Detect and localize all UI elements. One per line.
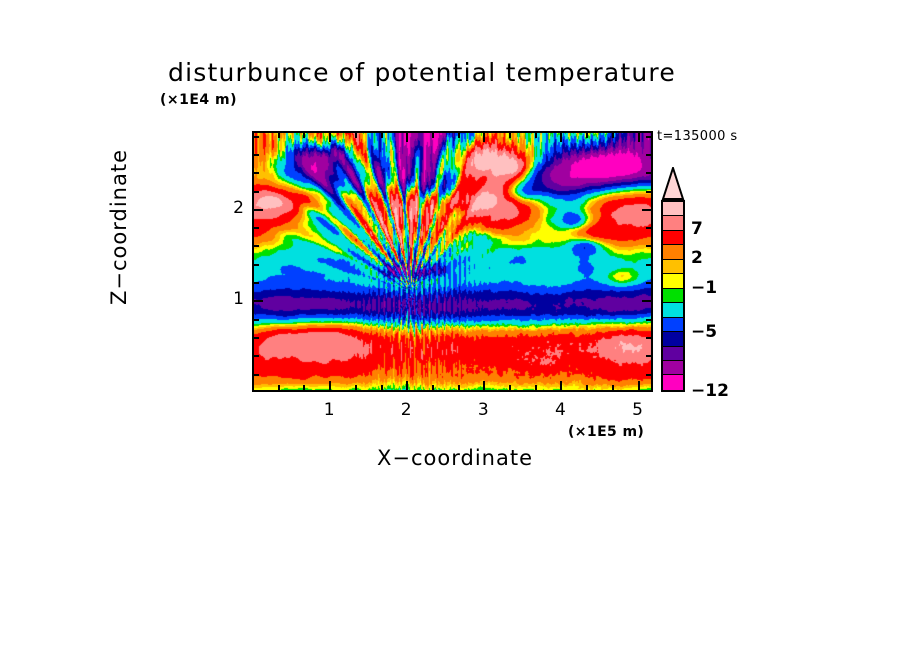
x-minor-tick-top bbox=[612, 133, 614, 138]
y-minor-tick bbox=[254, 136, 259, 138]
y-minor-tick-right bbox=[646, 319, 651, 321]
colorbar-tick-label: 7 bbox=[691, 219, 703, 239]
x-minor-tick-top bbox=[535, 133, 537, 138]
contour-field bbox=[254, 133, 651, 390]
x-major-tick-top bbox=[560, 133, 562, 142]
y-minor-tick bbox=[254, 245, 259, 247]
x-tick-label: 5 bbox=[623, 400, 653, 420]
colorbar-segment bbox=[663, 260, 683, 274]
x-tick-label: 3 bbox=[468, 400, 498, 420]
x-minor-tick-top bbox=[381, 133, 383, 138]
x-axis-title: X−coordinate bbox=[300, 446, 610, 470]
y-minor-tick-right bbox=[646, 355, 651, 357]
x-minor-tick-top bbox=[509, 133, 511, 138]
x-major-tick bbox=[638, 381, 640, 390]
colorbar-segment bbox=[663, 303, 683, 317]
x-major-tick-top bbox=[638, 133, 640, 142]
x-minor-tick-top bbox=[586, 133, 588, 138]
y-minor-tick-right bbox=[646, 154, 651, 156]
y-minor-tick bbox=[254, 191, 259, 193]
colorbar-segment bbox=[663, 375, 683, 389]
x-minor-tick bbox=[355, 385, 357, 390]
y-minor-tick bbox=[254, 319, 259, 321]
y-minor-tick bbox=[254, 154, 259, 156]
y-minor-tick-right bbox=[646, 136, 651, 138]
y-minor-tick-right bbox=[646, 374, 651, 376]
y-axis-title: Z−coordinate bbox=[107, 102, 131, 352]
y-tick-label: 2 bbox=[218, 198, 244, 218]
y-minor-tick-right bbox=[646, 282, 651, 284]
x-major-tick bbox=[406, 381, 408, 390]
y-minor-tick bbox=[254, 264, 259, 266]
y-major-tick-right bbox=[642, 209, 651, 211]
x-minor-tick bbox=[535, 385, 537, 390]
x-minor-tick bbox=[381, 385, 383, 390]
colorbar-segment bbox=[663, 289, 683, 303]
y-minor-tick bbox=[254, 172, 259, 174]
colorbar-segments bbox=[661, 200, 685, 392]
x-major-tick-top bbox=[329, 133, 331, 142]
y-major-tick bbox=[254, 300, 263, 302]
x-minor-tick bbox=[278, 385, 280, 390]
colorbar-segment bbox=[663, 202, 683, 216]
colorbar-segment bbox=[663, 318, 683, 332]
y-minor-tick bbox=[254, 282, 259, 284]
x-minor-tick bbox=[432, 385, 434, 390]
colorbar-arrow-cap bbox=[661, 167, 685, 200]
y-minor-tick-right bbox=[646, 245, 651, 247]
contour-plot-area bbox=[252, 131, 653, 392]
y-minor-tick bbox=[254, 227, 259, 229]
x-minor-tick-top bbox=[278, 133, 280, 138]
x-major-tick-top bbox=[406, 133, 408, 142]
x-minor-tick bbox=[612, 385, 614, 390]
x-tick-label: 1 bbox=[314, 400, 344, 420]
y-minor-tick bbox=[254, 355, 259, 357]
x-minor-tick bbox=[509, 385, 511, 390]
x-tick-label: 4 bbox=[545, 400, 575, 420]
x-minor-tick-top bbox=[355, 133, 357, 138]
colorbar-segment bbox=[663, 216, 683, 230]
y-major-tick bbox=[254, 209, 263, 211]
x-minor-tick bbox=[586, 385, 588, 390]
chart-title: disturbunce of potential temperature bbox=[168, 58, 748, 87]
x-tick-label: 2 bbox=[391, 400, 421, 420]
colorbar-tick-label: 2 bbox=[691, 248, 703, 268]
y-minor-tick-right bbox=[646, 337, 651, 339]
x-major-tick bbox=[329, 381, 331, 390]
x-axis-units-label: (×1E5 m) bbox=[568, 424, 644, 440]
figure-root: disturbunce of potential temperature (×1… bbox=[0, 0, 904, 654]
colorbar-segment bbox=[663, 274, 683, 288]
x-major-tick-top bbox=[483, 133, 485, 142]
x-minor-tick-top bbox=[458, 133, 460, 138]
y-minor-tick bbox=[254, 337, 259, 339]
y-minor-tick bbox=[254, 374, 259, 376]
y-minor-tick-right bbox=[646, 264, 651, 266]
x-major-tick bbox=[560, 381, 562, 390]
colorbar-segment bbox=[663, 332, 683, 346]
colorbar-segment bbox=[663, 231, 683, 245]
colorbar-tick-label: −12 bbox=[691, 381, 729, 401]
time-annotation: t=135000 s bbox=[657, 129, 738, 144]
colorbar-segment bbox=[663, 245, 683, 259]
colorbar-segment bbox=[663, 361, 683, 375]
y-minor-tick-right bbox=[646, 172, 651, 174]
x-minor-tick bbox=[458, 385, 460, 390]
colorbar-tick-label: −1 bbox=[691, 278, 717, 298]
x-major-tick bbox=[483, 381, 485, 390]
y-tick-label: 1 bbox=[218, 289, 244, 309]
colorbar-tick-label: −5 bbox=[691, 322, 717, 342]
x-minor-tick-top bbox=[303, 133, 305, 138]
y-major-tick-right bbox=[642, 300, 651, 302]
x-minor-tick bbox=[303, 385, 305, 390]
y-minor-tick-right bbox=[646, 191, 651, 193]
colorbar-segment bbox=[663, 347, 683, 361]
x-minor-tick-top bbox=[432, 133, 434, 138]
y-axis-units-label: (×1E4 m) bbox=[160, 92, 237, 108]
colorbar: 72−1−5−12 bbox=[661, 167, 685, 392]
y-minor-tick-right bbox=[646, 227, 651, 229]
